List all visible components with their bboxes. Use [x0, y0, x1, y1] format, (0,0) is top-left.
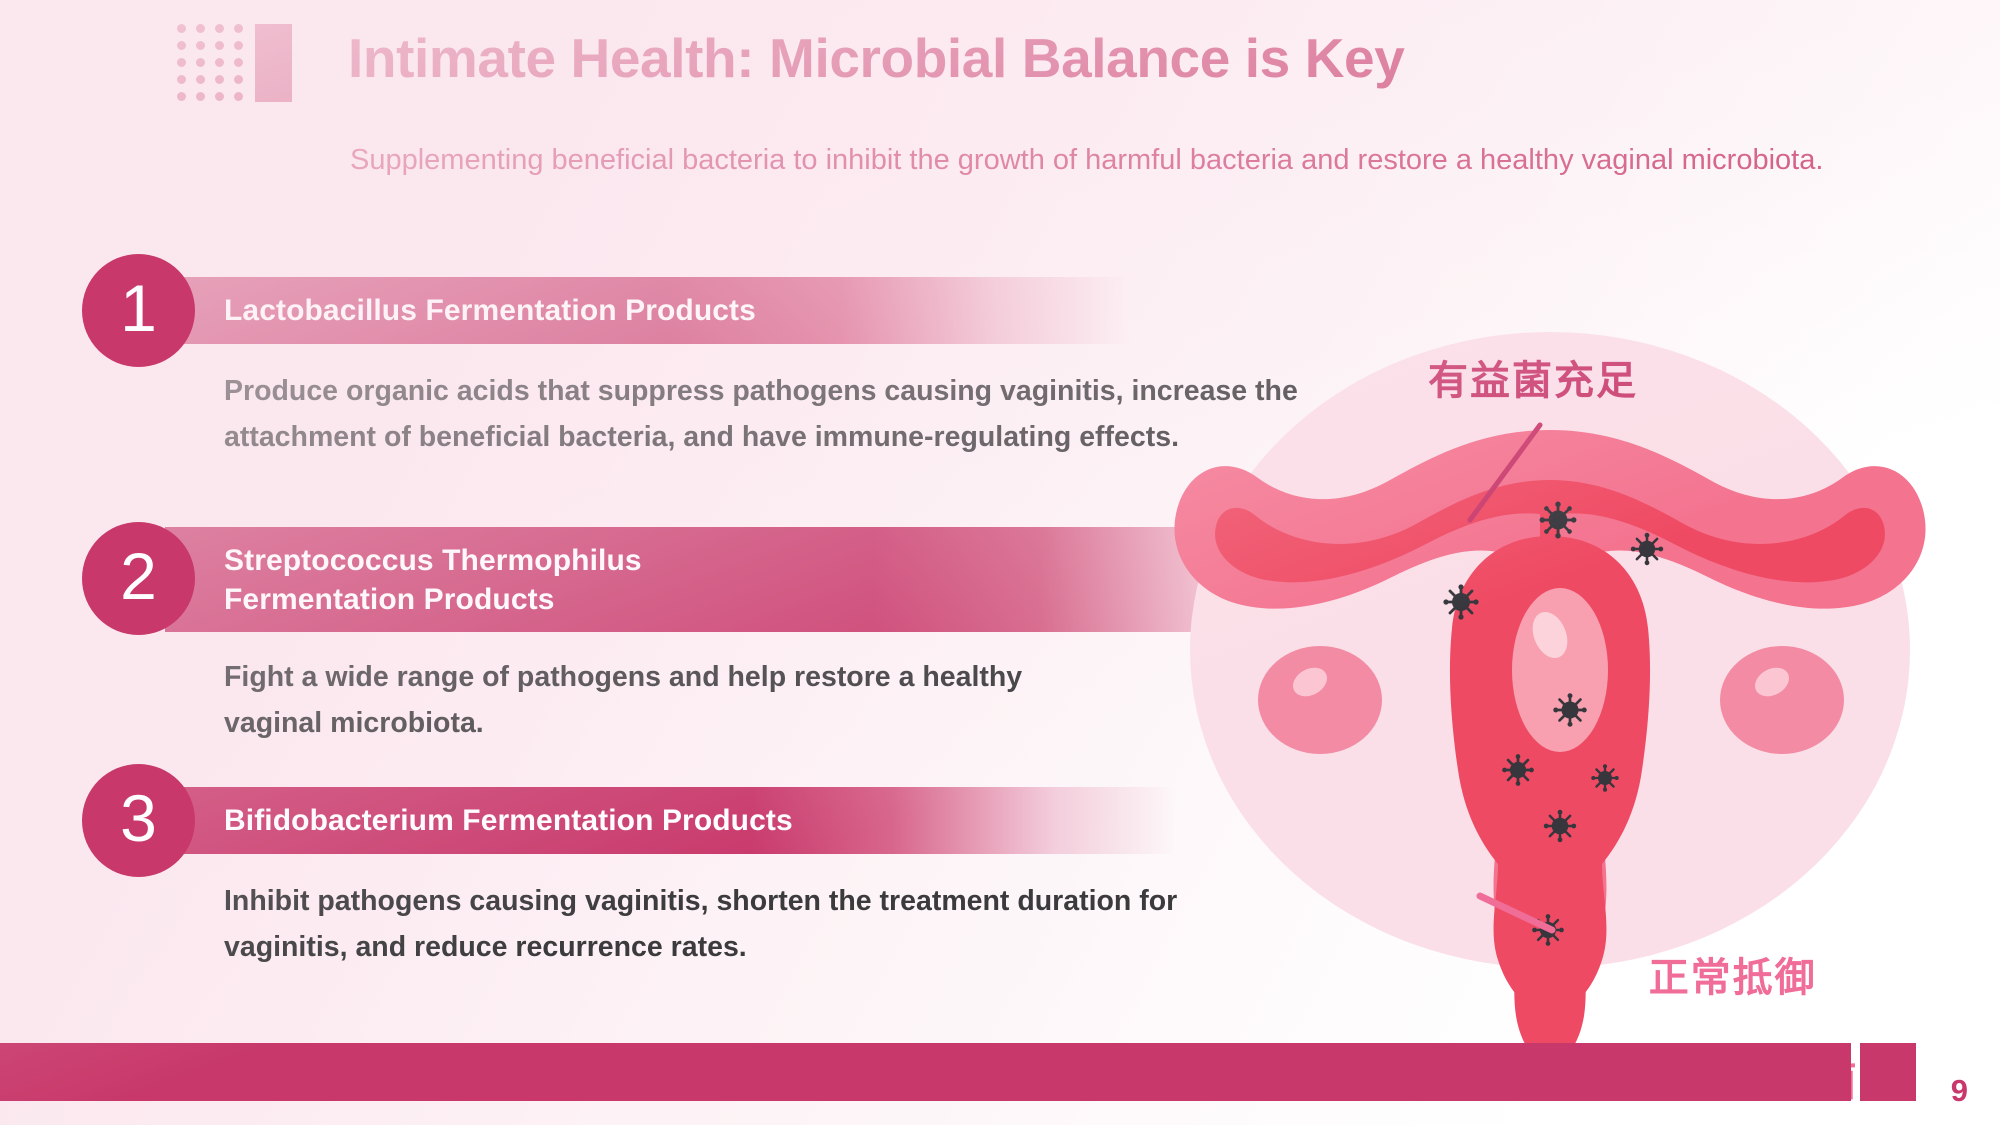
dot [177, 75, 186, 84]
slide-canvas: Intimate Health: Microbial Balance is Ke… [0, 0, 2000, 1125]
item-3-body: Inhibit pathogens causing vaginitis, sho… [224, 878, 1204, 970]
item-3-number-badge: 3 [82, 764, 195, 877]
dot [177, 41, 186, 50]
dot [215, 41, 224, 50]
endometrium [1512, 588, 1608, 752]
item-1-number-badge: 1 [82, 254, 195, 367]
page-number: 9 [1951, 1073, 1968, 1109]
dot [234, 41, 243, 50]
dot [215, 92, 224, 101]
item-2-title: Streptococcus Thermophilus Fermentation … [165, 541, 725, 619]
dot [234, 24, 243, 33]
item-3-title-wrap: Bifidobacterium Fermentation Products [165, 787, 1175, 854]
dot-grid-icon [177, 24, 251, 102]
dot [196, 75, 205, 84]
item-1-title: Lactobacillus Fermentation Products [165, 291, 756, 330]
dot [177, 58, 186, 67]
item-2-number: 2 [120, 543, 157, 609]
dot [234, 75, 243, 84]
dot [177, 92, 186, 101]
item-1-title-wrap: Lactobacillus Fermentation Products [165, 277, 1130, 344]
dot [215, 58, 224, 67]
item-1-number: 1 [120, 275, 157, 341]
item-3-title: Bifidobacterium Fermentation Products [165, 801, 793, 840]
label-beneficial-bacteria: 有益菌充足 [1428, 355, 1638, 407]
dot [215, 75, 224, 84]
bacteria-icon [1540, 502, 1577, 539]
label-normal-defense-line1: 正常抵御 [1649, 956, 1817, 1000]
footer-bar-left [0, 1043, 1851, 1101]
accent-square-icon [255, 24, 292, 102]
item-2-number-badge: 2 [82, 522, 195, 635]
uterus-illustration: 有益菌充足 正常抵御 私处有害菌 [1150, 330, 1950, 1070]
dot [196, 58, 205, 67]
header-logo-mark [177, 24, 287, 102]
page-title: Intimate Health: Microbial Balance is Ke… [348, 26, 1404, 90]
ovary-right [1720, 646, 1844, 754]
dot [234, 58, 243, 67]
dot [234, 92, 243, 101]
footer-bar-right [1860, 1043, 1916, 1101]
dot [177, 24, 186, 33]
dot [196, 92, 205, 101]
dot [196, 41, 205, 50]
item-3-number: 3 [120, 785, 157, 851]
ovary-left [1258, 646, 1382, 754]
page-subtitle: Supplementing beneficial bacteria to inh… [350, 140, 1840, 181]
dot [215, 24, 224, 33]
item-2-body: Fight a wide range of pathogens and help… [224, 654, 1024, 746]
dot [196, 24, 205, 33]
